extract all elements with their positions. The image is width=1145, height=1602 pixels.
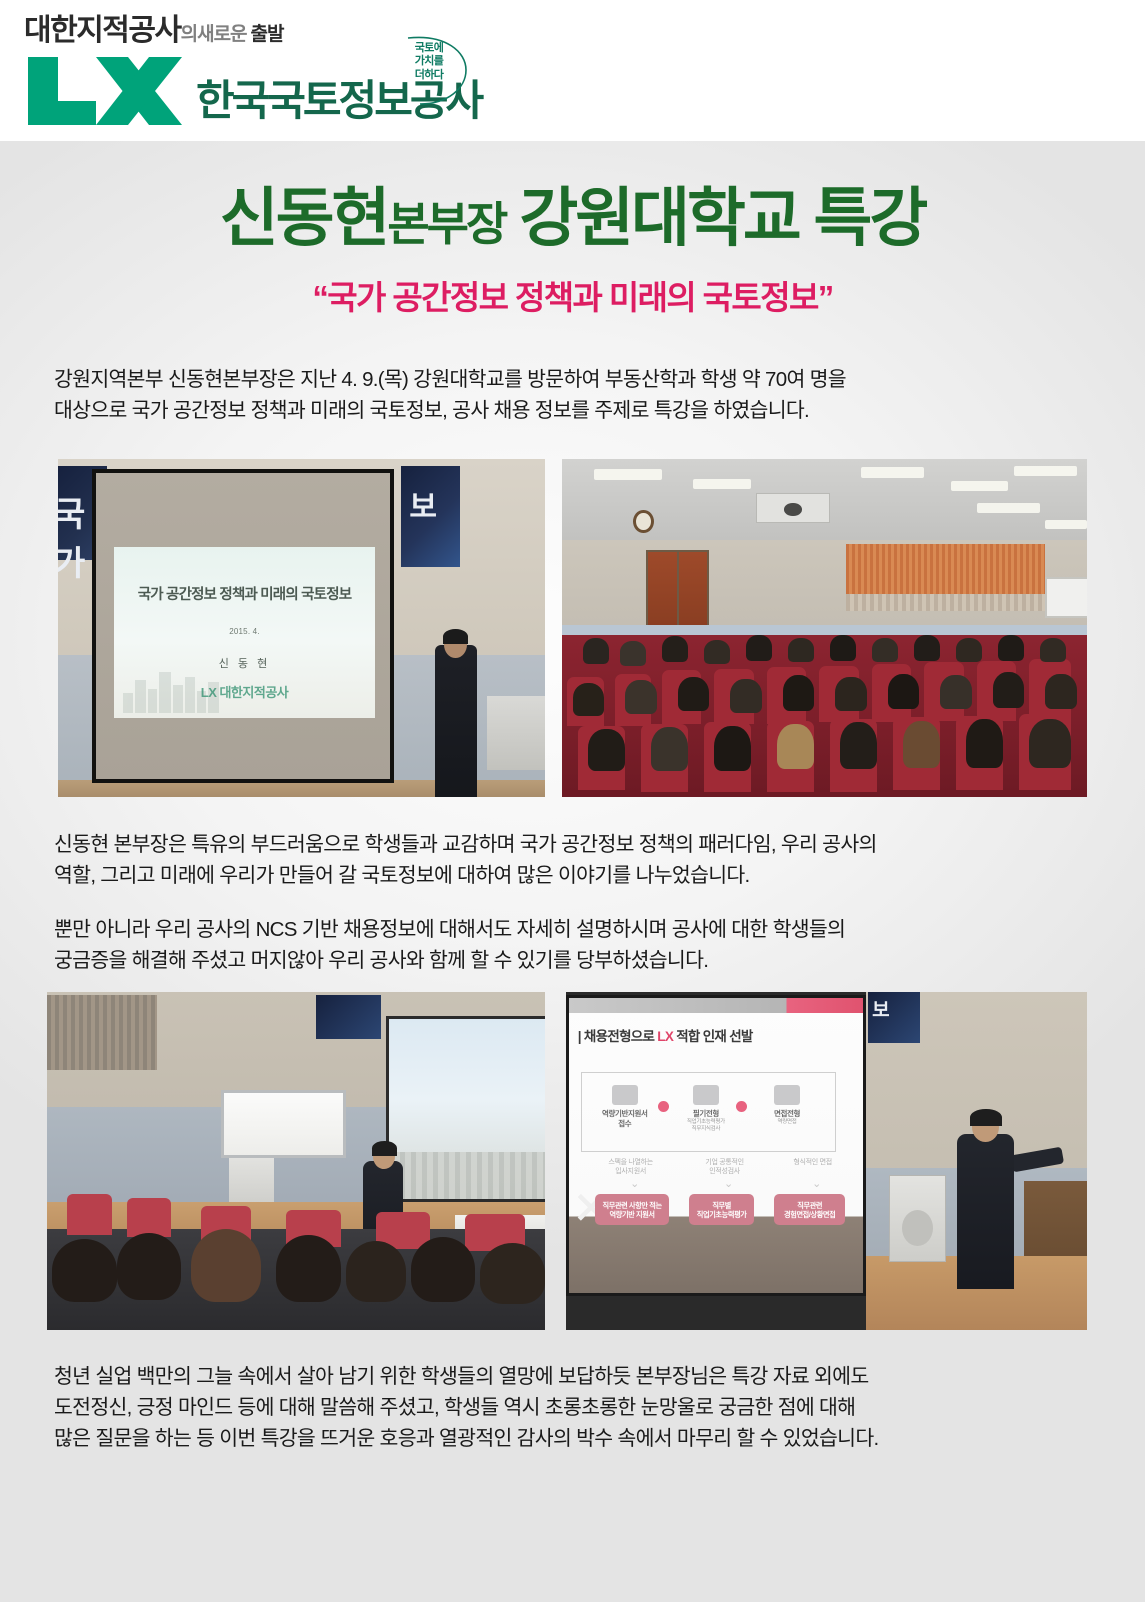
header-slogan-text: 국토에 가치를 더하다 bbox=[406, 42, 452, 82]
p4-slide-title-lx: LX bbox=[657, 1029, 673, 1044]
p4-slide-title: | 채용전형으로 LX 적합 인재 선발 bbox=[578, 1025, 854, 1045]
p4-step-1-document-icon bbox=[612, 1085, 638, 1105]
header-tagline-bold: 대한지적공사 bbox=[24, 16, 181, 46]
p1-slide-logo: LX 대한지적공사 bbox=[114, 682, 376, 701]
p2-seating-area bbox=[562, 635, 1087, 797]
photo-ncs-recruitment-slide: 보 ✕ | 채용전형으로 LX 적합 인재 선발 bbox=[566, 992, 1087, 1330]
p4-chevron-2-icon: ⌄ bbox=[722, 1181, 736, 1188]
p2-ceiling-projector bbox=[756, 493, 830, 523]
p4-flow-box: 역량기반지원서 접수 필기전형 직업기초능력평가 직무지식검사 bbox=[581, 1072, 836, 1152]
p4-speaker-hair bbox=[970, 1109, 1001, 1126]
p4-step-2-sub: 직업기초능력평가 직무지식검사 bbox=[678, 1119, 734, 1133]
p4-pill-3: 직무관련 경험면접/상황면접 bbox=[774, 1194, 844, 1225]
p1-slide-presenter: 신 동 현 bbox=[114, 655, 376, 671]
page-title-name: 신동현 bbox=[220, 182, 388, 254]
page-title: 신동현본부장강원대학교 특강 bbox=[0, 186, 1145, 250]
p4-step-2-label: 필기전형 bbox=[678, 1109, 734, 1118]
p4-slide-topbar bbox=[569, 998, 863, 1013]
p4-caption-1: 스펙을 나열하는 입사지원서 bbox=[595, 1158, 665, 1176]
header-slogan: 국토에 가치를 더하다 bbox=[400, 32, 472, 108]
p4-chevron-3-icon: ⌄ bbox=[810, 1181, 824, 1188]
page-header: 대한지적공사 의새로운 출발 한국국토정보공사 국토에 가치를 더하다 bbox=[0, 0, 1145, 141]
p4-speaker-body bbox=[957, 1134, 1014, 1289]
p4-step-1: 역량기반지원서 접수 bbox=[597, 1085, 653, 1128]
p1-podium bbox=[487, 696, 545, 770]
p3-whiteboard bbox=[221, 1090, 346, 1158]
body-paragraph-3: 뿐만 아니라 우리 공사의 NCS 기반 채용정보에 대해서도 자세히 설명하시… bbox=[54, 914, 1099, 976]
header-tagline: 대한지적공사 의새로운 출발 bbox=[24, 16, 284, 46]
p3-banner bbox=[316, 995, 381, 1039]
photo-lecture-slide-opening: 국가 보 bbox=[58, 459, 545, 797]
body-paragraph-4: 청년 실업 백만의 그늘 속에서 살아 남기 위한 학생들의 열망에 보답하듯 … bbox=[54, 1361, 1104, 1454]
p4-caption-3: 형식적인 면접 bbox=[777, 1158, 847, 1167]
p4-arrow-2-icon bbox=[736, 1101, 747, 1112]
p2-curtain-valance bbox=[846, 594, 1046, 611]
photo-audience-lecture-hall bbox=[562, 459, 1087, 797]
page-subtitle: “국가 공간정보 정책과 미래의 국토정보” bbox=[0, 281, 1145, 314]
p4-chevron-1-icon: ⌄ bbox=[628, 1181, 642, 1188]
header-tagline-dark: 출발 bbox=[251, 25, 284, 46]
p1-speaker-body bbox=[435, 645, 476, 797]
p4-step-3-label: 면접전형 bbox=[759, 1109, 815, 1118]
p4-step-1-label: 역량기반지원서 접수 bbox=[597, 1109, 653, 1128]
p4-slide-title-post: 적합 인재 선발 bbox=[673, 1029, 752, 1044]
p1-projection-screen: 국가 공간정보 정책과 미래의 국토정보 2015. 4. 신 동 현 LX 대… bbox=[96, 473, 390, 779]
body-paragraph-2: 신동현 본부장은 특유의 부드러움으로 학생들과 교감하며 국가 공간정보 정책… bbox=[54, 829, 1099, 891]
p4-arrow-1-icon bbox=[658, 1101, 669, 1112]
header-tagline-light: 의새로운 bbox=[181, 25, 247, 46]
p3-projection-screen bbox=[386, 1016, 545, 1202]
p4-slide: ✕ | 채용전형으로 LX 적합 인재 선발 역량기반지원서 접수 bbox=[569, 998, 863, 1293]
p4-wooden-desk bbox=[1024, 1181, 1087, 1255]
p1-banner-right: 보 bbox=[401, 466, 459, 567]
p2-entrance-door bbox=[646, 550, 709, 628]
p4-banner-text: 보 bbox=[872, 995, 888, 1022]
p4-step-3-people-icon bbox=[774, 1085, 800, 1105]
p1-speaker-hair bbox=[443, 629, 467, 644]
p3-speaker-hair bbox=[372, 1141, 397, 1155]
p1-slide-title: 국가 공간정보 정책과 미래의 국토정보 bbox=[114, 583, 376, 604]
p2-whiteboard bbox=[1045, 577, 1087, 618]
p4-pill-2: 직무별 직업기초능력평가 bbox=[689, 1194, 754, 1225]
p4-step-3-sub: 역량면접 bbox=[759, 1119, 815, 1126]
body-paragraph-1: 강원지역본부 신동현본부장은 지난 4. 9.(목) 강원대학교를 방문하여 부… bbox=[54, 364, 1094, 426]
p1-slide: 국가 공간정보 정책과 미래의 국토정보 2015. 4. 신 동 현 LX 대… bbox=[114, 547, 376, 719]
p4-step-2-speech-bubble-icon bbox=[693, 1085, 719, 1105]
p1-banner-right-text: 보 bbox=[409, 482, 435, 526]
page-title-role: 본부장 bbox=[387, 198, 505, 250]
p2-wall-clock-icon bbox=[633, 510, 654, 534]
newsletter-page: 대한지적공사 의새로운 출발 한국국토정보공사 국토에 가치를 더하다 신동현본… bbox=[0, 0, 1145, 1602]
lx-logo-icon bbox=[22, 55, 182, 130]
p4-step-3: 면접전형 역량면접 bbox=[759, 1085, 815, 1125]
p4-pill-1: 직무관련 사항만 적는 역량기반 지원서 bbox=[595, 1194, 668, 1225]
p4-slide-title-pre: | 채용전형으로 bbox=[578, 1029, 658, 1044]
p4-caption-2: 기업 공통적인 인적성검사 bbox=[689, 1158, 759, 1176]
page-title-rest: 강원대학교 특강 bbox=[519, 182, 925, 254]
p3-seating-area bbox=[47, 1229, 545, 1330]
photo-speaker-addressing-students bbox=[47, 992, 545, 1330]
page-body: 신동현본부장강원대학교 특강 “국가 공간정보 정책과 미래의 국토정보” 강원… bbox=[0, 141, 1145, 1602]
p3-window-curtain bbox=[47, 995, 157, 1069]
p1-projection-screen-frame: 국가 공간정보 정책과 미래의 국토정보 2015. 4. 신 동 현 LX 대… bbox=[92, 469, 394, 783]
p4-banner: 보 bbox=[868, 992, 920, 1043]
p4-step-2: 필기전형 직업기초능력평가 직무지식검사 bbox=[678, 1085, 734, 1132]
p4-loudspeaker-cabinet bbox=[889, 1175, 946, 1263]
p1-slide-date: 2015. 4. bbox=[114, 627, 376, 636]
p4-projection-screen-frame: ✕ | 채용전형으로 LX 적합 인재 선발 역량기반지원서 접수 bbox=[566, 995, 866, 1296]
